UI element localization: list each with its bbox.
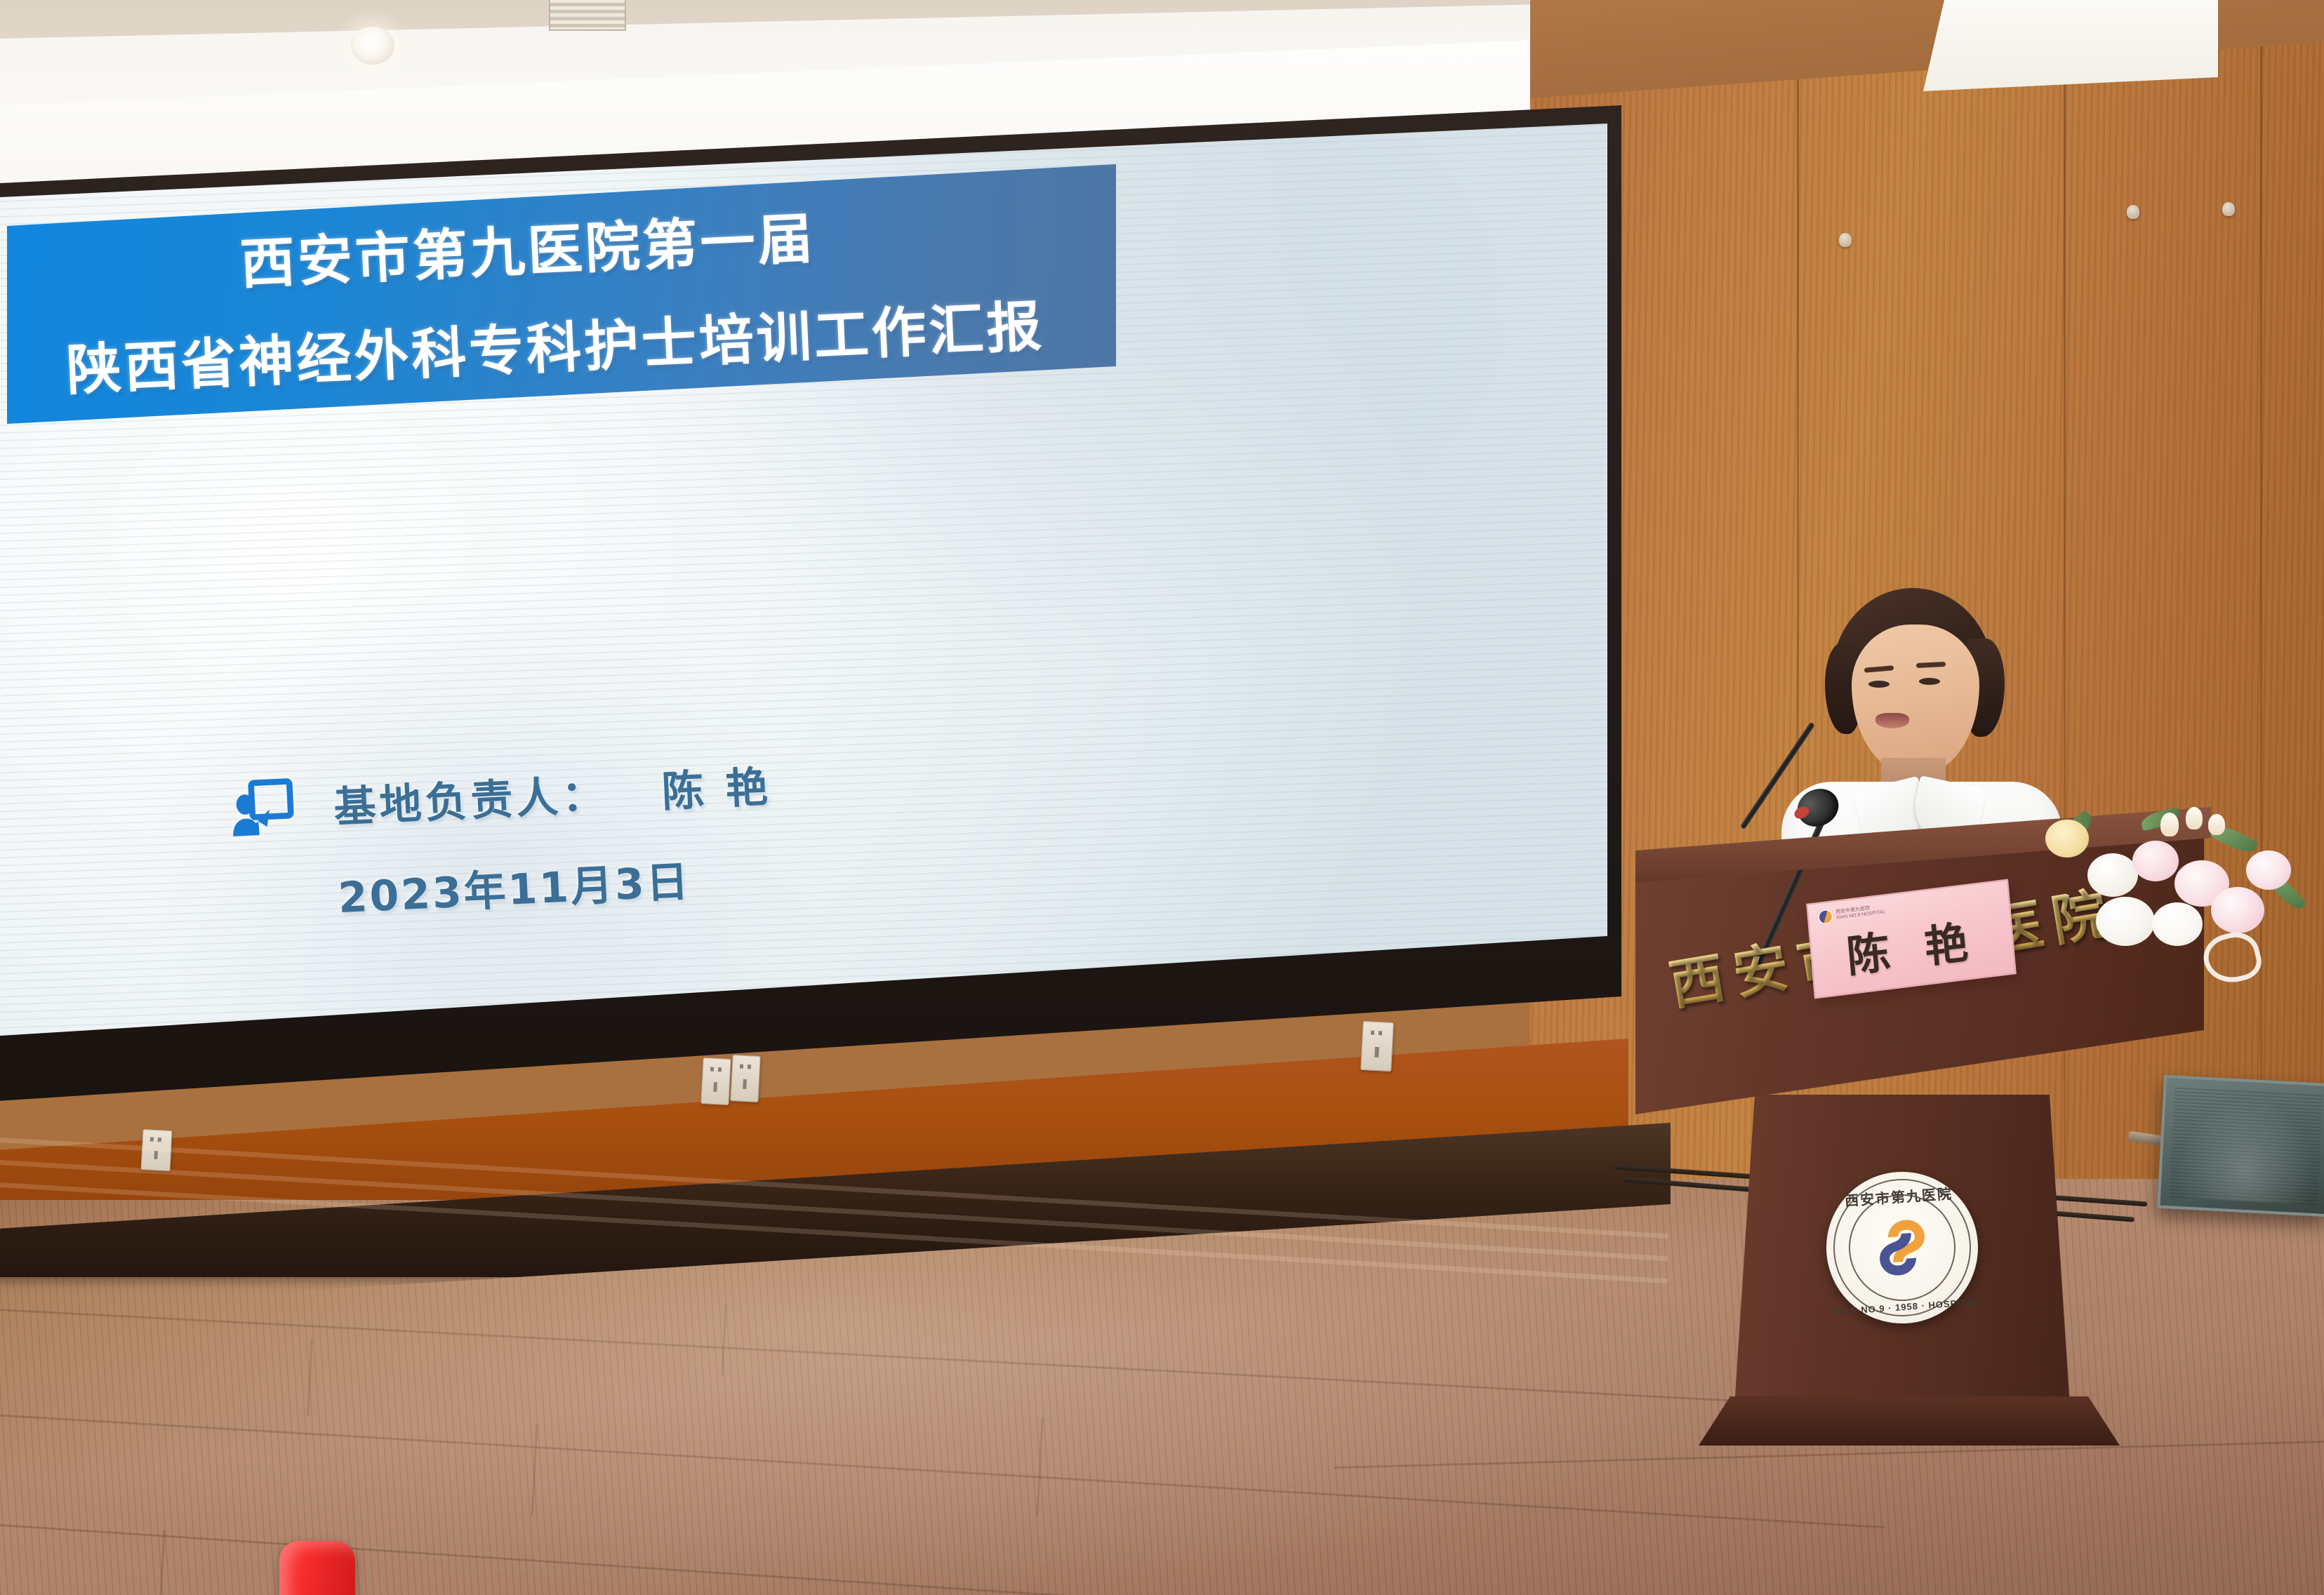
slide-presenter-text: 基地负责人： 陈 艳	[332, 753, 772, 834]
wall-switch-2[interactable]	[730, 1055, 760, 1102]
presenter-board-icon	[229, 777, 296, 839]
ceiling-downlight-1	[351, 27, 394, 65]
podium-base-foot	[1699, 1396, 2120, 1446]
slide-title-line-1: 西安市第九医院第一届	[238, 195, 816, 300]
wall-hook-1	[1839, 233, 1852, 247]
slide-presenter-row: 基地负责人： 陈 艳	[229, 739, 1073, 839]
wall-switch-1[interactable]	[700, 1057, 731, 1105]
face	[1852, 625, 1979, 775]
wall-hook-2	[2127, 205, 2139, 219]
slide-presenter-label: 基地负责人：	[333, 770, 609, 832]
placard-badge-icon	[1818, 909, 1833, 924]
bouquet-rose-white	[2087, 853, 2138, 897]
flower-bouquet	[2036, 800, 2316, 982]
slide-presenter-name: 陈 艳	[660, 763, 772, 817]
eye-left	[1868, 681, 1890, 688]
bouquet-rose-pink	[2246, 850, 2291, 890]
bouquet-bud	[2186, 807, 2203, 829]
projection-screen[interactable]: 西安市第九医院第一届 陕西省神经外科专科护士培训工作汇报 基地负责人： 陈 艳 …	[0, 124, 1607, 1057]
bouquet-bud	[2160, 813, 2179, 836]
bouquet-rose-white	[2096, 897, 2155, 946]
bouquet-rose-pink	[2132, 841, 2179, 881]
eye-right	[1919, 678, 1940, 685]
bouquet-bud	[2208, 814, 2225, 835]
bouquet-rose-pink	[2211, 887, 2264, 933]
slide-title-banner: 西安市第九医院第一届 陕西省神经外科专科护士培训工作汇报	[7, 164, 1116, 424]
slide-date: 2023年11月3日	[336, 829, 1077, 925]
wall-hook-3	[2222, 202, 2235, 216]
slide-meta-block: 基地负责人： 陈 艳 2023年11月3日	[229, 739, 1077, 930]
floor-loudspeaker	[2157, 1075, 2324, 1217]
ceiling-air-vent	[549, 0, 626, 31]
mouth	[1875, 713, 1909, 728]
bouquet-rose-white	[2152, 902, 2203, 946]
slide-title-line-2: 陕西省神经外科专科护士培训工作汇报	[65, 283, 1046, 406]
emblem-double-s-mark	[1861, 1206, 1943, 1288]
bouquet-rose-cream	[2045, 820, 2089, 857]
conference-hall-scene: 西安市第九医院第一届 陕西省神经外科专科护士培训工作汇报 基地负责人： 陈 艳 …	[0, 0, 2324, 1595]
bouquet-ribbon	[2199, 927, 2266, 988]
wall-outlet-3[interactable]	[1360, 1021, 1394, 1072]
fire-extinguisher	[279, 1541, 355, 1595]
